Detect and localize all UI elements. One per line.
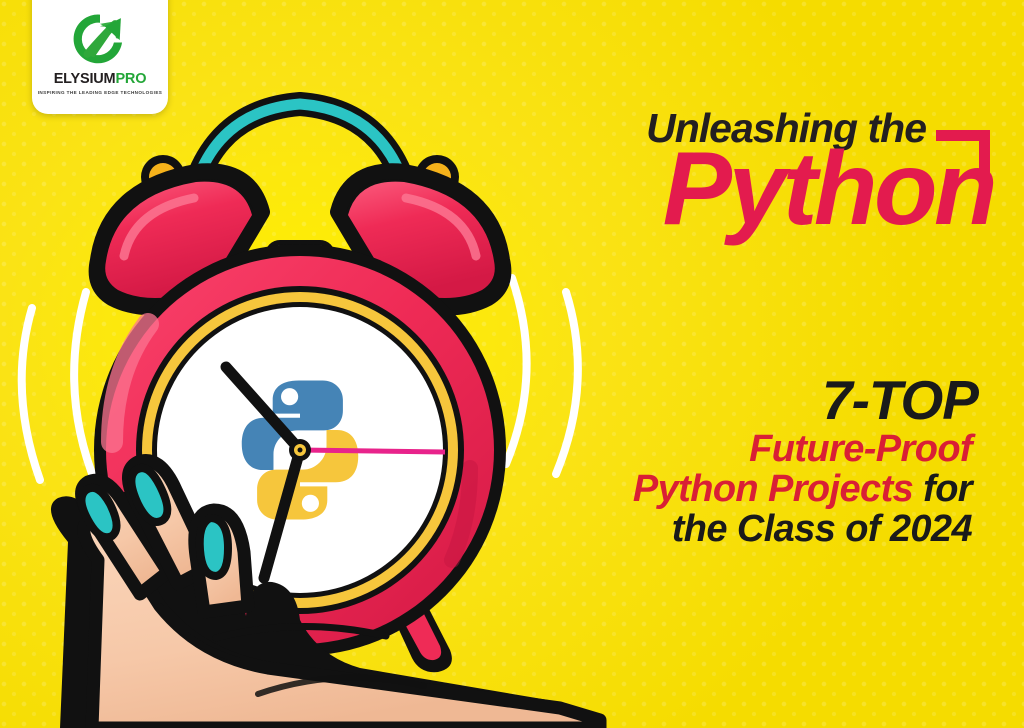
subheading-line-2: Future-Proof	[520, 430, 996, 469]
logo-wordmark-green-o: O	[135, 71, 146, 87]
subheading-line-3-red: Python Projects	[633, 468, 913, 510]
subheading-line-4: the Class of 2024	[520, 510, 996, 549]
elysiumpro-logo-badge[interactable]: ELYSIUMPRO INSPIRING THE LEADING EDGE TE…	[32, 0, 168, 114]
subheading-line-3: Python Projects for	[520, 470, 996, 509]
corner-bracket-vertical	[979, 130, 990, 176]
headline-main-word: Python	[556, 145, 996, 234]
python-logo-lower-eye	[302, 495, 319, 512]
motion-lines-left	[22, 292, 96, 484]
logo-wordmark-dark: ELYSIUM	[54, 71, 116, 87]
corner-bracket-mark	[936, 130, 990, 176]
logo-tagline: INSPIRING THE LEADING EDGE TECHNOLOGIES	[38, 90, 163, 95]
hand-holding-alarm-clock-illustration	[0, 60, 600, 728]
python-logo-upper-eye	[281, 388, 298, 405]
subheading-line-3-dark: for	[923, 468, 972, 510]
logo-wordmark: ELYSIUMPRO	[54, 72, 147, 87]
headline-block: Unleashing the Python	[556, 108, 996, 234]
logo-wordmark-green: PR	[115, 71, 135, 87]
subheading-block: 7-TOP Future-Proof Python Projects for t…	[520, 372, 996, 548]
poster-canvas: ELYSIUMPRO INSPIRING THE LEADING EDGE TE…	[0, 0, 1024, 728]
circular-arrow-logo-icon	[71, 10, 129, 68]
clock-second-hand	[300, 450, 445, 452]
subheading-line-1: 7-TOP	[520, 372, 996, 428]
